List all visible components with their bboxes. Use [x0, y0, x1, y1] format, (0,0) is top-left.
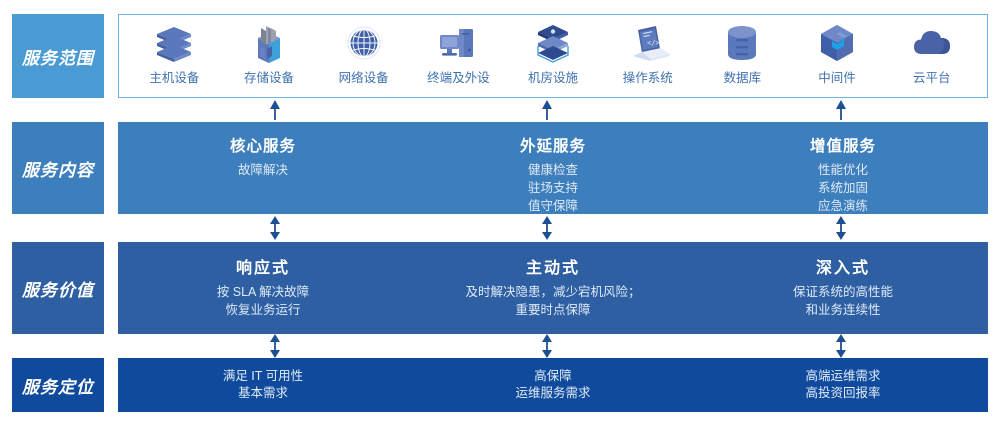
connector-highend-to-deep	[834, 334, 848, 358]
scope-item-label: 网络设备	[339, 67, 389, 86]
connector-value-added-to-scope	[834, 100, 848, 120]
positioning-column-line: 高投资回报率	[805, 385, 880, 403]
service-value-panel: 响应式 按 SLA 解决故障 恢复业务运行 主动式 及时解决隐患，减少宕机风险；…	[118, 242, 988, 334]
laptop-code-icon: </>	[625, 21, 671, 65]
content-column-line: 值守保障	[528, 197, 578, 215]
positioning-column-line: 基本需求	[238, 385, 288, 403]
connector-guarantee-to-proactive	[540, 334, 554, 358]
positioning-column-line: 满足 IT 可用性	[223, 368, 303, 386]
arrow-up-down-icon	[835, 216, 847, 240]
row-label-service-scope: 服务范围	[12, 14, 104, 98]
value-column-line: 和业务连续性	[805, 301, 880, 319]
scope-item-operating-system[interactable]: </> 操作系统	[600, 21, 695, 86]
scope-item-cloud-platform[interactable]: 云平台	[884, 21, 979, 86]
connector-basic-to-responsive	[268, 334, 282, 358]
positioning-column-line: 运维服务需求	[515, 385, 590, 403]
positioning-column-line: 高端运维需求	[805, 368, 880, 386]
value-column-line: 及时解决隐患，减少宕机风险；	[465, 283, 640, 301]
scope-item-label: 存储设备	[244, 67, 294, 86]
value-column-line: 恢复业务运行	[225, 301, 300, 319]
row-label-service-content: 服务内容	[12, 122, 104, 214]
scope-item-network-equipment[interactable]: 网络设备	[316, 21, 411, 86]
positioning-column-highend[interactable]: 高端运维需求 高投资回报率	[698, 358, 988, 412]
service-positioning-panel: 满足 IT 可用性 基本需求 高保障 运维服务需求 高端运维需求 高投资回报率	[118, 358, 988, 412]
storage-array-icon	[248, 21, 290, 65]
arrow-up-down-icon	[541, 334, 553, 358]
value-column-responsive[interactable]: 响应式 按 SLA 解决故障 恢复业务运行	[118, 242, 408, 334]
scope-item-database[interactable]: 数据库	[695, 21, 790, 86]
content-column-line: 系统加固	[818, 179, 868, 197]
content-column-core-service[interactable]: 核心服务 故障解决	[118, 122, 408, 214]
value-column-title: 响应式	[236, 254, 290, 278]
scope-item-label: 云平台	[913, 67, 951, 86]
value-column-line: 重要时点保障	[515, 301, 590, 319]
scope-item-middleware[interactable]: 中间件	[790, 21, 885, 86]
scope-item-terminal-peripherals[interactable]: 终端及外设	[411, 21, 506, 86]
database-cylinder-icon	[723, 21, 761, 65]
scope-item-label: 终端及外设	[427, 67, 490, 86]
positioning-column-line: 高保障	[534, 368, 572, 386]
positioning-column-basic[interactable]: 满足 IT 可用性 基本需求	[118, 358, 408, 412]
value-column-deep[interactable]: 深入式 保证系统的高性能 和业务连续性	[698, 242, 988, 334]
arrow-up-icon	[835, 100, 847, 120]
svg-text:</>: </>	[647, 39, 660, 47]
value-column-title: 深入式	[816, 254, 870, 278]
scope-item-host-equipment[interactable]: 主机设备	[127, 21, 222, 86]
service-framework-diagram: 服务范围 主机设备	[0, 0, 1000, 424]
connector-extended-to-scope	[540, 100, 554, 120]
arrow-up-down-icon	[269, 216, 281, 240]
service-scope-panel: 主机设备 存储设备	[118, 14, 988, 98]
arrow-up-down-icon	[541, 216, 553, 240]
desktop-pc-icon	[436, 21, 480, 65]
scope-item-label: 机房设施	[528, 67, 578, 86]
value-column-proactive[interactable]: 主动式 及时解决隐患，减少宕机风险； 重要时点保障	[408, 242, 698, 334]
connector-responsive-to-core	[268, 216, 282, 240]
connector-deep-to-value-added	[834, 216, 848, 240]
content-column-title: 外延服务	[520, 134, 586, 156]
content-column-extended-service[interactable]: 外延服务 健康检查 驻场支持 值守保障	[408, 122, 698, 214]
content-column-title: 核心服务	[230, 134, 296, 156]
scope-item-data-center-facility[interactable]: 机房设施	[506, 21, 601, 86]
server-stack-icon	[153, 21, 195, 65]
scope-item-storage-equipment[interactable]: 存储设备	[222, 21, 317, 86]
scope-item-label: 数据库	[724, 67, 762, 86]
value-column-title: 主动式	[526, 254, 580, 278]
row-label-service-positioning: 服务定位	[12, 358, 104, 412]
arrow-up-down-icon	[835, 334, 847, 358]
value-column-line: 按 SLA 解决故障	[217, 283, 309, 301]
arrow-up-down-icon	[269, 334, 281, 358]
content-column-title: 增值服务	[810, 134, 876, 156]
cube-middleware-icon	[816, 21, 858, 65]
scope-item-label: 操作系统	[623, 67, 673, 86]
value-column-line: 保证系统的高性能	[793, 283, 893, 301]
service-content-panel: 核心服务 故障解决 外延服务 健康检查 驻场支持 值守保障 增值服务 性能优化 …	[118, 122, 988, 214]
data-center-rack-icon	[531, 21, 575, 65]
row-label-service-value: 服务价值	[12, 242, 104, 334]
globe-network-icon	[344, 21, 384, 65]
content-column-line: 应急演练	[818, 197, 868, 215]
content-column-line: 性能优化	[818, 161, 868, 179]
arrow-up-icon	[269, 100, 281, 120]
arrow-up-icon	[541, 100, 553, 120]
content-column-line: 驻场支持	[528, 179, 578, 197]
content-column-line: 健康检查	[528, 161, 578, 179]
content-column-line: 故障解决	[238, 161, 288, 179]
scope-item-label: 中间件	[818, 67, 856, 86]
content-column-value-added-service[interactable]: 增值服务 性能优化 系统加固 应急演练	[698, 122, 988, 214]
positioning-column-guarantee[interactable]: 高保障 运维服务需求	[408, 358, 698, 412]
scope-item-label: 主机设备	[149, 67, 199, 86]
cloud-platform-icon	[910, 21, 954, 65]
connector-proactive-to-extended	[540, 216, 554, 240]
connector-core-to-scope	[268, 100, 282, 120]
